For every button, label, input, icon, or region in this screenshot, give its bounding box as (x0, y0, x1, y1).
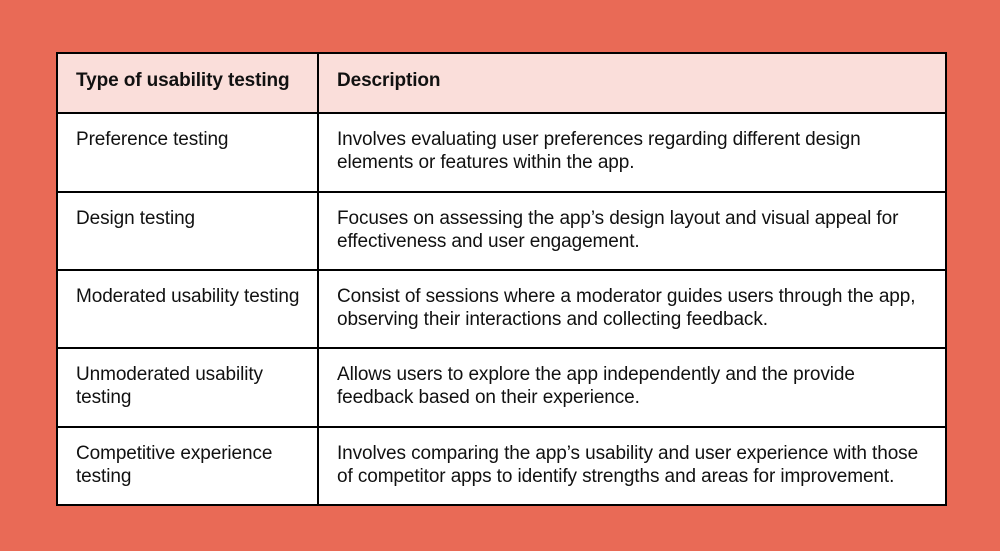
table-row: Moderated usability testing Consist of s… (57, 270, 946, 348)
cell-type: Competitive experience testing (57, 427, 318, 505)
table-row: Unmoderated usability testing Allows use… (57, 348, 946, 426)
cell-description: Consist of sessions where a moderator gu… (318, 270, 946, 348)
table-row: Preference testing Involves evaluating u… (57, 113, 946, 191)
table-header: Type of usability testing Description (57, 53, 946, 113)
table-row: Design testing Focuses on assessing the … (57, 192, 946, 270)
table-row: Competitive experience testing Involves … (57, 427, 946, 505)
column-header-description: Description (318, 53, 946, 113)
usability-testing-table: Type of usability testing Description Pr… (56, 52, 947, 506)
cell-type: Moderated usability testing (57, 270, 318, 348)
cell-description: Involves comparing the app’s usability a… (318, 427, 946, 505)
cell-description: Focuses on assessing the app’s design la… (318, 192, 946, 270)
cell-type: Preference testing (57, 113, 318, 191)
cell-type: Design testing (57, 192, 318, 270)
cell-description: Involves evaluating user preferences reg… (318, 113, 946, 191)
column-header-type: Type of usability testing (57, 53, 318, 113)
cell-description: Allows users to explore the app independ… (318, 348, 946, 426)
page-canvas: Type of usability testing Description Pr… (0, 0, 1000, 551)
cell-type: Unmoderated usability testing (57, 348, 318, 426)
table-body: Preference testing Involves evaluating u… (57, 113, 946, 505)
table-header-row: Type of usability testing Description (57, 53, 946, 113)
